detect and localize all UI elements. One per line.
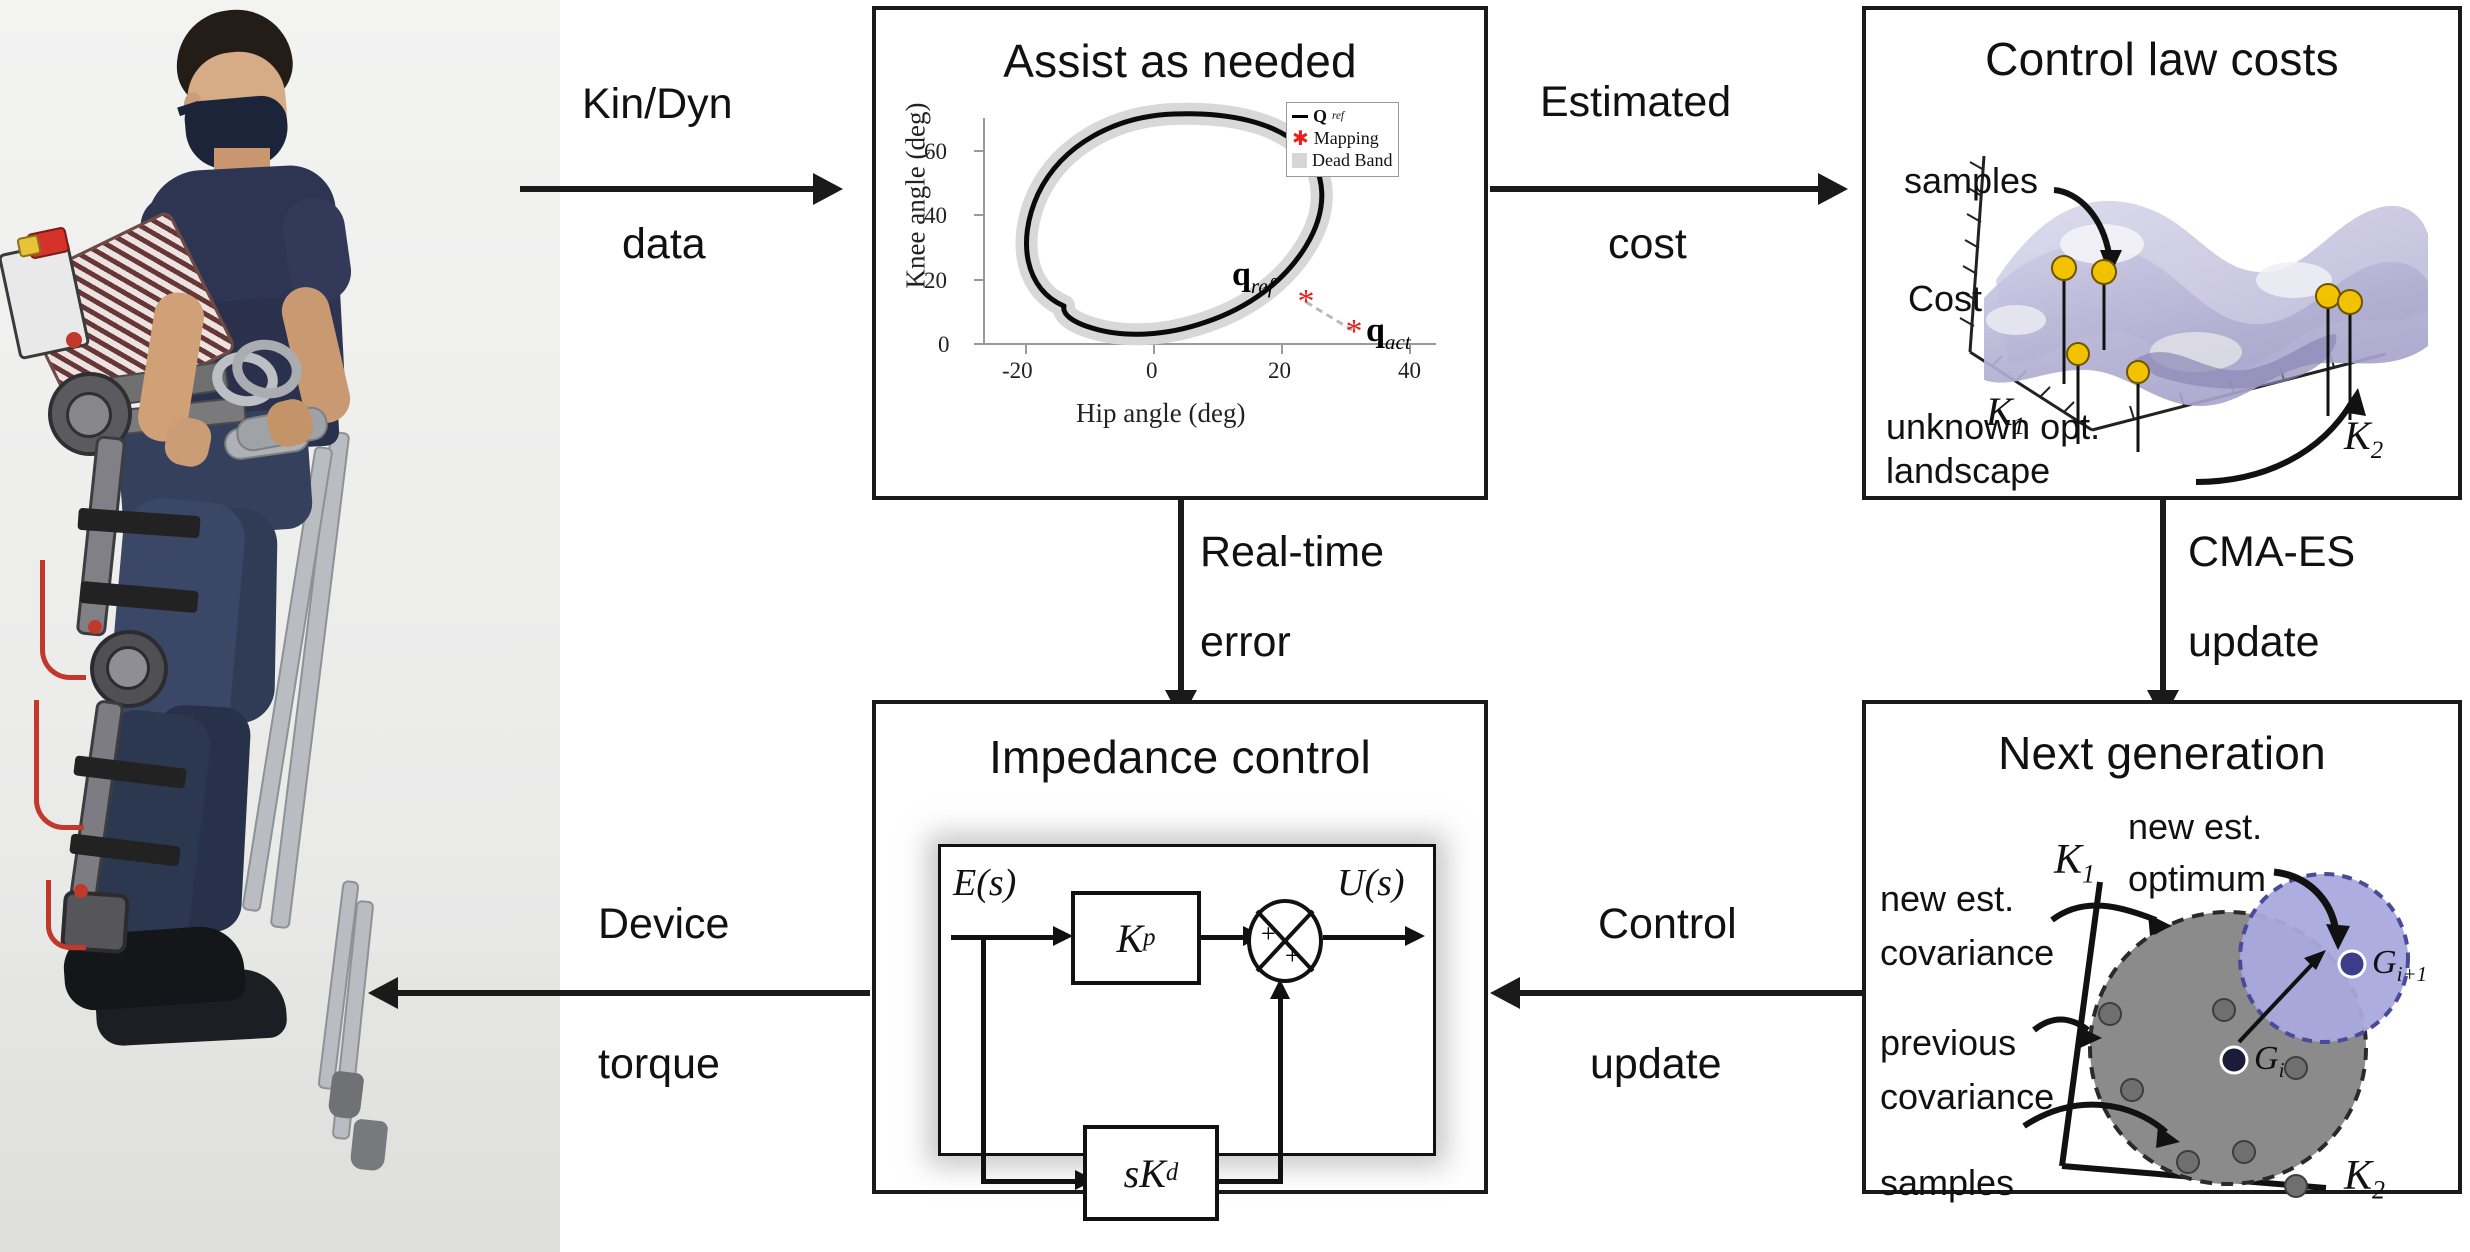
label-centroid-gi: Gi — [2254, 1040, 2284, 1083]
assist-xtick-20: 20 — [1268, 358, 1291, 384]
assist-ytick-60: 60 — [924, 139, 947, 165]
legend-label-deadband: Dead Band — [1312, 150, 1392, 172]
arrow-label-estimated-cost-line2: cost — [1608, 220, 1687, 269]
bd-block-kp: Kp — [1071, 891, 1201, 985]
assist-chart-legend: Qref ✱ Mapping Dead Band — [1286, 102, 1399, 177]
arrow-label-kin-dyn-line1: Kin/Dyn — [582, 80, 733, 129]
bd-sum-plus-top: + — [1261, 919, 1276, 949]
arrow-realtime-error-line — [1178, 500, 1184, 708]
arrow-kin-dyn-head — [813, 173, 843, 205]
bd-input-label: E(s) — [953, 861, 1016, 905]
annotation-qact: qact — [1366, 312, 1411, 355]
panel-control-law-costs: Control law costs — [1862, 6, 2462, 500]
assist-xtick-0: 0 — [1146, 358, 1158, 384]
bd-skd-up-line — [1278, 999, 1283, 1184]
exoskeleton-knee-hub — [106, 646, 150, 690]
connector-lower — [74, 884, 88, 898]
cable-middle — [34, 700, 84, 830]
arrow-label-control-update-line2: update — [1590, 1040, 1722, 1089]
arrow-label-control-update-line1: Control — [1598, 900, 1737, 949]
legend-row-qref: Qref — [1292, 106, 1392, 128]
label-samples-costs: samples — [1904, 160, 2038, 202]
exoskeleton-hip-hub — [66, 392, 112, 438]
arrow-label-estimated-cost-line1: Estimated — [1540, 78, 1731, 127]
bd-summing-junction: + + — [1247, 899, 1323, 983]
bd-skd-arrowhead — [1270, 979, 1290, 999]
svg-text:*: * — [1346, 313, 1363, 350]
arrow-label-kin-dyn-line2: data — [622, 220, 706, 269]
connector-upper — [66, 332, 82, 348]
assist-ytick-0: 0 — [938, 332, 950, 358]
panel-impedance-title: Impedance control — [876, 730, 1484, 784]
label-new-est-optimum-line1: new est. — [2128, 808, 2262, 846]
legend-patch-swatch — [1292, 153, 1307, 168]
label-unknown-landscape-line1: unknown opt. — [1886, 406, 2100, 448]
bd-output-line — [1323, 935, 1415, 940]
label-new-est-optimum-line2: optimum — [2128, 860, 2266, 898]
legend-row-mapping: ✱ Mapping — [1292, 128, 1392, 150]
label-cost-axis: Cost — [1908, 278, 1982, 320]
cable-upper — [40, 560, 86, 680]
arrow-label-realtime-error-line2: error — [1200, 618, 1291, 667]
panel-costs-title: Control law costs — [1866, 32, 2458, 86]
label-unknown-landscape-line2: landscape — [1886, 450, 2050, 492]
bd-branch-vertical — [981, 935, 986, 1183]
bd-block-skd: sKd — [1083, 1125, 1219, 1221]
legend-row-deadband: Dead Band — [1292, 150, 1392, 172]
bd-output-label: U(s) — [1337, 861, 1405, 905]
arrow-device-torque-head — [368, 977, 398, 1009]
bd-skd-out-line — [1219, 1179, 1283, 1184]
panel-impedance-control: Impedance control E(s) Kp + + — [872, 700, 1488, 1194]
legend-label-mapping: Mapping — [1314, 128, 1379, 150]
label-k2-costs: K2 — [2344, 412, 2383, 465]
impedance-block-diagram: E(s) Kp + + U(s) — [938, 844, 1436, 1156]
bd-input-line — [951, 935, 1063, 940]
assist-chart: Knee angle (deg) — [876, 10, 1492, 504]
legend-label-qref: Q — [1313, 106, 1327, 128]
figure-canvas: Kin/Dyn data Assist as needed Knee angle… — [0, 0, 2470, 1252]
label-new-est-cov-line1: new est. — [1880, 880, 2014, 918]
legend-star-swatch: ✱ — [1292, 132, 1309, 146]
assist-xtick-n20: -20 — [1002, 358, 1033, 384]
bd-branch-horizontal — [981, 1179, 1085, 1184]
assist-chart-svg: * * — [876, 10, 1492, 504]
label-prev-cov-line2: covariance — [1880, 1078, 2054, 1116]
legend-line-swatch — [1292, 115, 1308, 118]
arrow-kin-dyn-line — [520, 186, 815, 192]
label-k2-nextgen: K2 — [2344, 1152, 2385, 1205]
bd-input-arrowhead — [1053, 926, 1073, 946]
assist-ytick-20: 20 — [924, 268, 947, 294]
label-new-est-cov-line2: covariance — [1880, 934, 2054, 972]
crutch-tip-left — [327, 1070, 364, 1120]
label-samples-nextgen: samples — [1880, 1164, 2014, 1202]
svg-text:*: * — [1298, 283, 1315, 320]
arrow-label-device-torque-line1: Device — [598, 900, 729, 949]
assist-chart-xlabel: Hip angle (deg) — [1076, 398, 1245, 429]
arrow-label-realtime-error-line1: Real-time — [1200, 528, 1384, 577]
panel-assist-as-needed: Assist as needed Knee angle (deg) — [872, 6, 1488, 500]
arrow-label-device-torque-line2: torque — [598, 1040, 720, 1089]
label-k1-nextgen: K1 — [2054, 836, 2095, 889]
exoskeleton-photo — [0, 0, 560, 1252]
annotation-qref: qref — [1232, 256, 1274, 299]
arrow-estimated-cost-line — [1490, 186, 1820, 192]
bd-output-arrowhead — [1405, 926, 1425, 946]
legend-label-qref-sub: ref — [1332, 110, 1344, 124]
bd-sum-plus-bottom: + — [1285, 941, 1300, 971]
crutch-tip-right — [349, 1118, 388, 1171]
assist-xtick-40: 40 — [1398, 358, 1421, 384]
arrow-device-torque-line — [398, 990, 870, 996]
arrow-control-update-head — [1490, 977, 1520, 1009]
arrow-estimated-cost-head — [1818, 173, 1848, 205]
label-centroid-gi1: Gi+1 — [2372, 944, 2427, 987]
assist-ytick-40: 40 — [924, 203, 947, 229]
arrow-label-cmaes-line2: update — [2188, 618, 2320, 667]
arrow-label-cmaes-line1: CMA-ES — [2188, 528, 2355, 577]
connector-middle — [88, 620, 102, 634]
label-prev-cov-line1: previous — [1880, 1024, 2016, 1062]
panel-next-generation: Next generation — [1862, 700, 2462, 1194]
arrow-cmaes-update-line — [2160, 500, 2166, 708]
arrow-control-update-line — [1520, 990, 1862, 996]
